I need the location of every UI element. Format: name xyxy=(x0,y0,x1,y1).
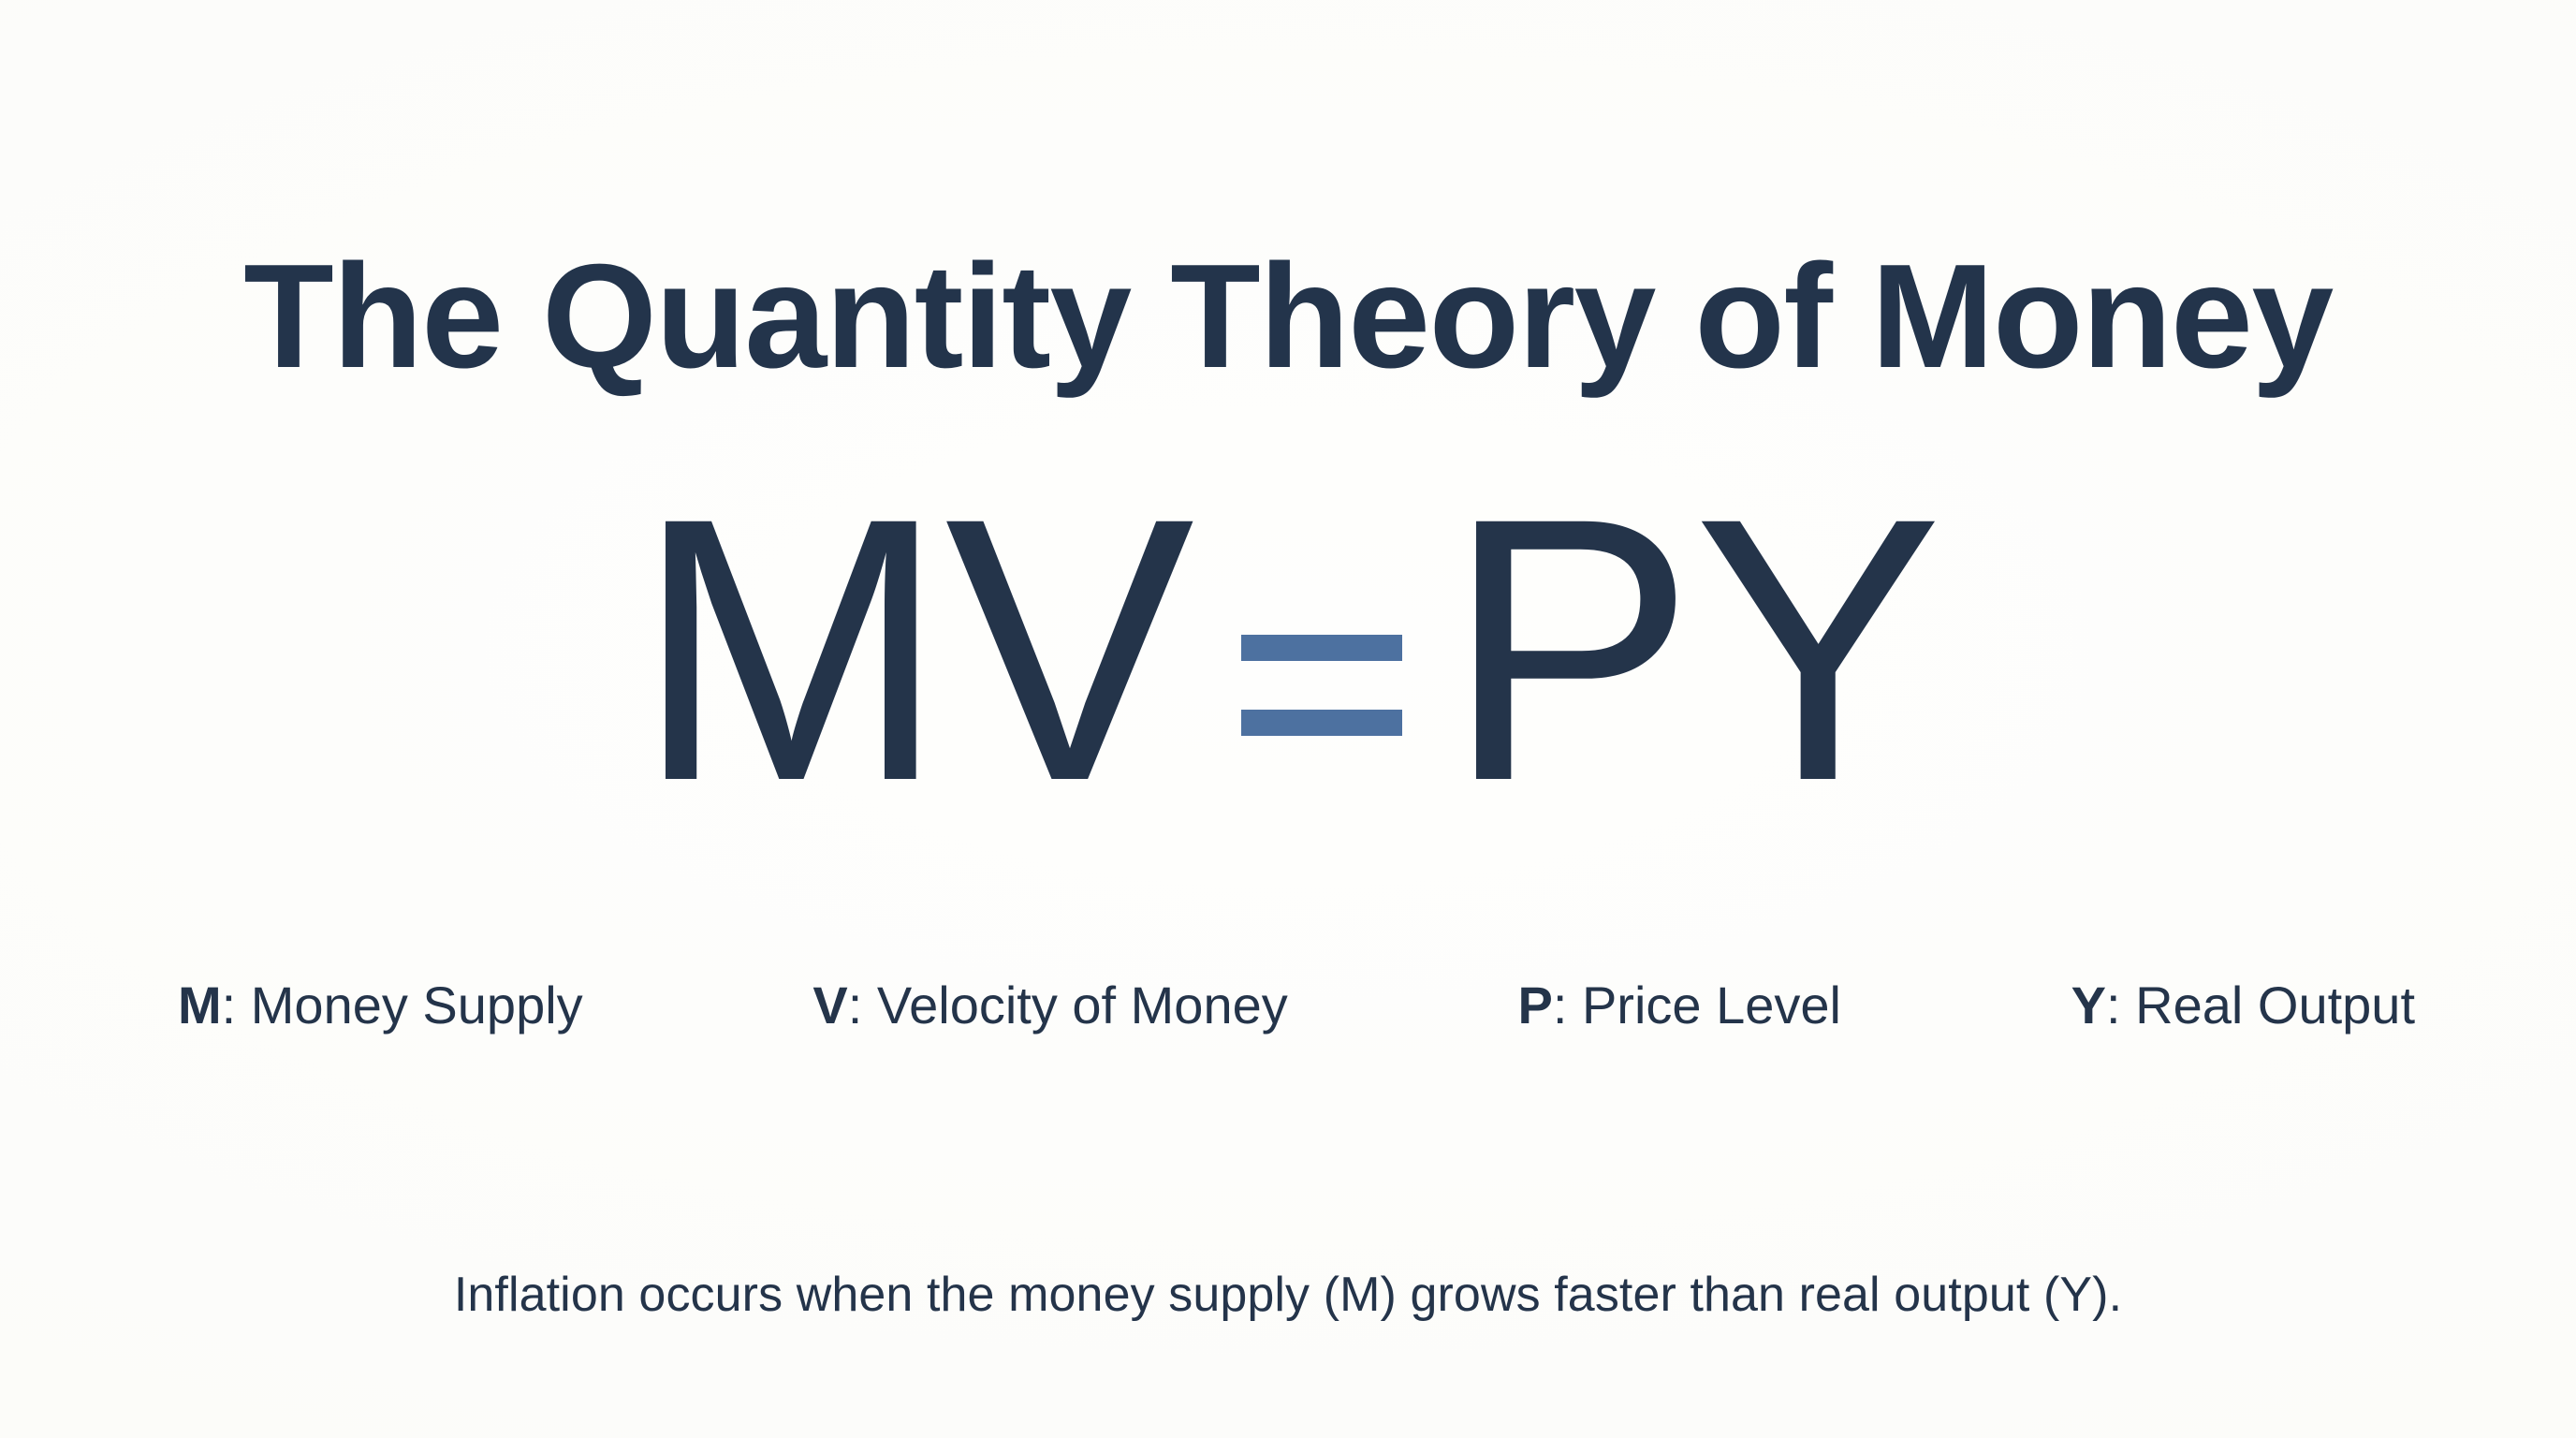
caption-text: Inflation occurs when the money supply (… xyxy=(454,1264,2122,1328)
definition-description-p: Price Level xyxy=(1582,976,1841,1034)
equals-sign-icon xyxy=(1241,509,1402,790)
equals-bar-bottom xyxy=(1241,710,1402,736)
definition-description-v: Velocity of Money xyxy=(877,976,1288,1034)
definition-item-p: P: Price Level xyxy=(1517,974,1841,1036)
definition-symbol-y: Y xyxy=(2071,976,2106,1034)
equation-right-term: PY xyxy=(1445,504,1941,796)
page-title: The Quantity Theory of Money xyxy=(243,240,2333,395)
definitions-row: M: Money Supply V: Velocity of Money P: … xyxy=(178,974,2415,1036)
equals-bar-top xyxy=(1241,635,1402,661)
definition-item-v: V: Velocity of Money xyxy=(812,974,1287,1036)
slide-canvas: The Quantity Theory of Money MV PY M: Mo… xyxy=(0,0,2576,1438)
caption-container: Inflation occurs when the money supply (… xyxy=(0,1215,2576,1376)
definition-separator-m: : xyxy=(222,976,251,1034)
definition-symbol-v: V xyxy=(812,976,847,1034)
definition-symbol-p: P xyxy=(1517,976,1552,1034)
definition-description-y: Real Output xyxy=(2135,976,2415,1034)
definition-item-m: M: Money Supply xyxy=(178,974,583,1036)
definition-description-m: Money Supply xyxy=(251,976,583,1034)
title-container: The Quantity Theory of Money xyxy=(0,140,2576,494)
equation-left-term: MV xyxy=(635,504,1193,796)
equation-container: MV PY xyxy=(0,504,2576,796)
definition-separator-y: : xyxy=(2106,976,2135,1034)
definition-separator-v: : xyxy=(848,976,877,1034)
definition-symbol-m: M xyxy=(178,976,222,1034)
definition-separator-p: : xyxy=(1553,976,1582,1034)
definition-item-y: Y: Real Output xyxy=(2071,974,2415,1036)
